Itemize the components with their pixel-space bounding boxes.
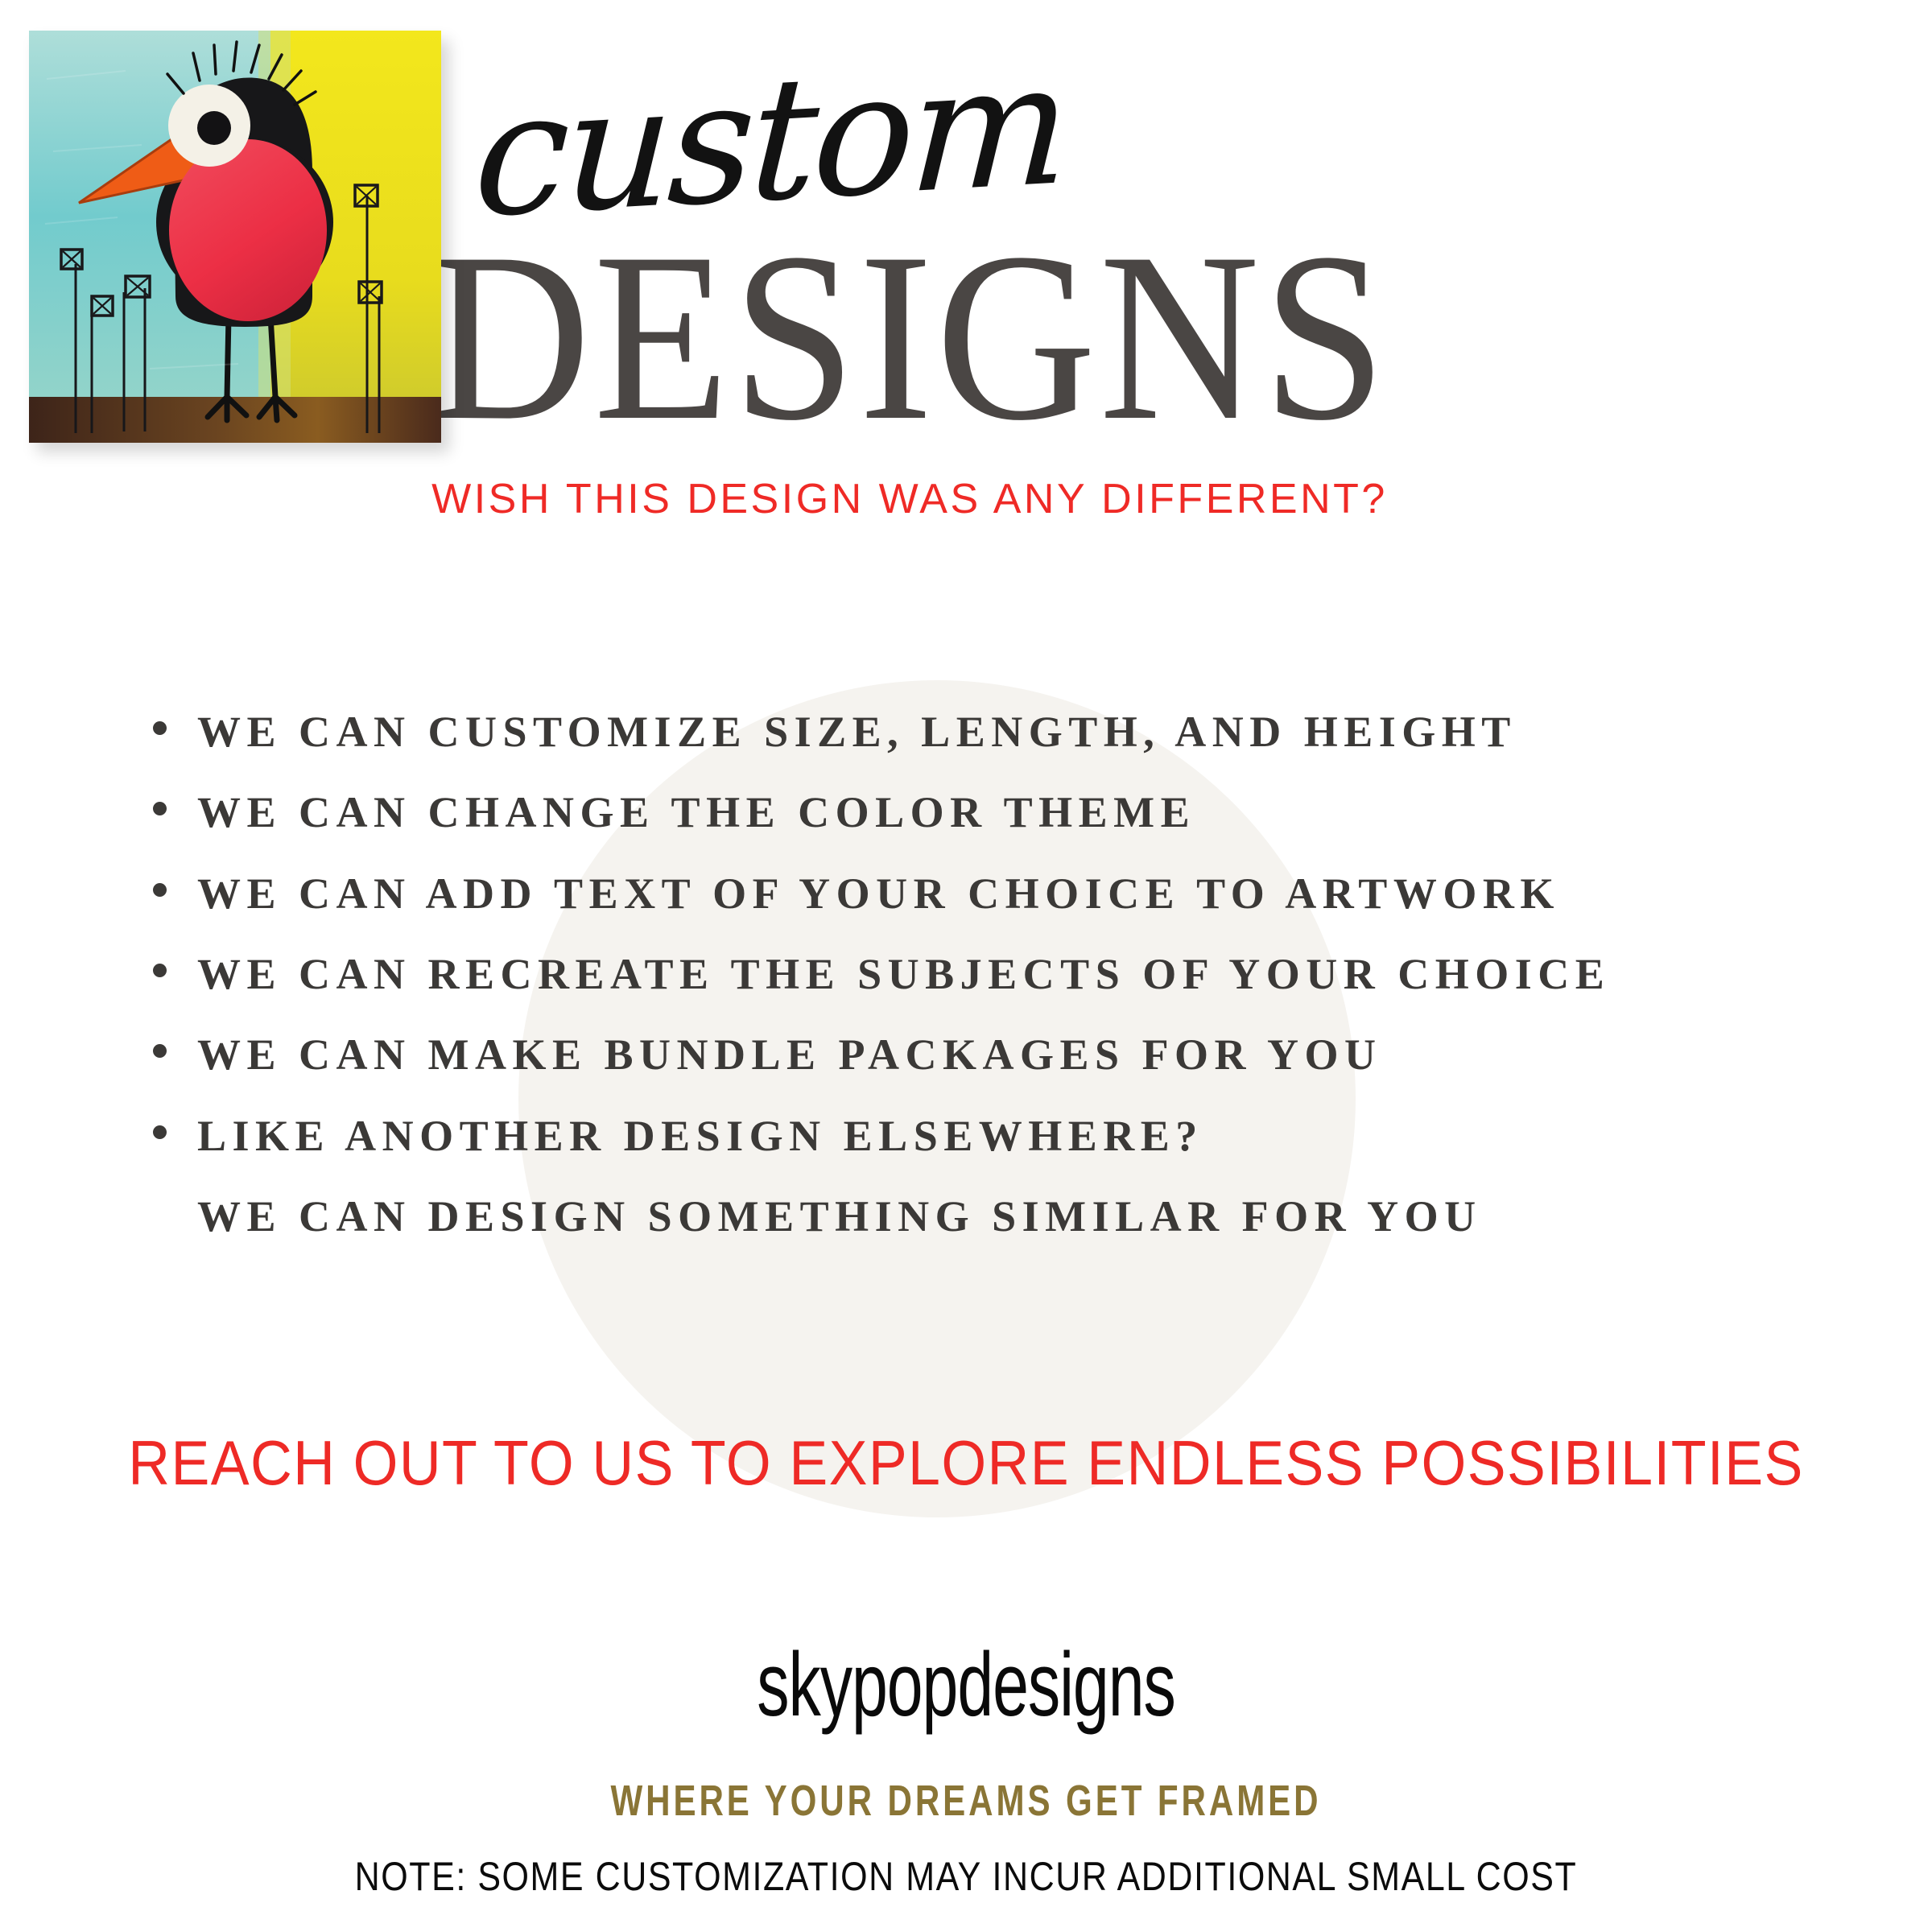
list-item: WE CAN RECREATE THE SUBJECTS OF YOUR CHO… (153, 951, 1827, 997)
header-block: custom DESIGNS WISH THIS DESIGN WAS ANY … (451, 48, 1900, 523)
bullet-dot-icon (153, 1125, 167, 1139)
list-item-label: LIKE ANOTHER DESIGN ELSEWHERE? (197, 1113, 1203, 1159)
call-to-action-text: REACH OUT TO US TO EXPLORE ENDLESS POSSI… (77, 1426, 1855, 1500)
brand-tagline: WHERE YOUR DREAMS GET FRAMED (213, 1776, 1719, 1826)
bullet-dot-icon (153, 964, 167, 977)
page-title: DESIGNS (384, 225, 1435, 448)
bullet-dot-icon (153, 802, 167, 815)
list-item: WE CAN ADD TEXT OF YOUR CHOICE TO ARTWOR… (153, 870, 1827, 917)
bullet-dot-placeholder-icon (153, 1206, 167, 1220)
bullet-dot-icon (153, 1044, 167, 1058)
list-item: LIKE ANOTHER DESIGN ELSEWHERE? (153, 1113, 1827, 1159)
list-item-label: WE CAN ADD TEXT OF YOUR CHOICE TO ARTWOR… (197, 870, 1560, 917)
list-item: WE CAN MAKE BUNDLE PACKAGES FOR YOU (153, 1031, 1827, 1078)
subheadline: WISH THIS DESIGN WAS ANY DIFFERENT? (338, 475, 1481, 523)
bullet-dot-icon (153, 721, 167, 735)
list-item: WE CAN CUSTOMIZE SIZE, LENGTH, AND HEIGH… (153, 708, 1827, 755)
list-item-label: WE CAN MAKE BUNDLE PACKAGES FOR YOU (197, 1031, 1382, 1078)
brand-name: skypopdesigns (270, 1633, 1662, 1736)
bullet-dot-icon (153, 883, 167, 897)
footer-note: NOTE: SOME CUSTOMIZATION MAY INCUR ADDIT… (135, 1853, 1797, 1900)
bird-painting-illustration (29, 31, 441, 443)
list-item: WE CAN CHANGE THE COLOR THEME (153, 789, 1827, 836)
list-item-label: WE CAN CHANGE THE COLOR THEME (197, 789, 1195, 836)
list-item-label: WE CAN RECREATE THE SUBJECTS OF YOUR CHO… (197, 951, 1610, 997)
artwork-thumbnail (29, 31, 441, 443)
feature-list: WE CAN CUSTOMIZE SIZE, LENGTH, AND HEIGH… (153, 708, 1827, 1274)
list-item-label: WE CAN DESIGN SOMETHING SIMILAR FOR YOU (197, 1193, 1482, 1240)
list-item-label: WE CAN CUSTOMIZE SIZE, LENGTH, AND HEIGH… (197, 708, 1517, 755)
list-item-continuation: WE CAN DESIGN SOMETHING SIMILAR FOR YOU (153, 1193, 1827, 1240)
